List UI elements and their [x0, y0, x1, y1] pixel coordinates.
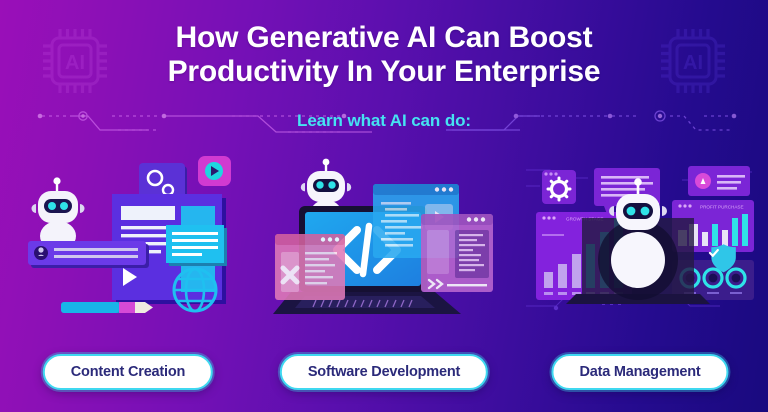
button-data-management[interactable]: Data Management: [551, 354, 728, 390]
profit-card-label: PROFIT PURCHASE: [700, 205, 744, 210]
panel-content-creation[interactable]: Content Creation: [0, 152, 256, 412]
banner-root: AI AI: [0, 0, 768, 412]
search-bar: [28, 241, 149, 268]
button-content-creation[interactable]: Content Creation: [43, 354, 213, 390]
text-card: [166, 225, 227, 266]
illustration-data-management: GROWTH STAGE: [520, 156, 760, 321]
panel-software-development[interactable]: Software Development: [256, 152, 512, 412]
headline-line-2: Productivity In Your Enterprise: [0, 55, 768, 89]
illustration-content-creation: [23, 156, 233, 321]
robot-icon: [32, 177, 85, 251]
tools-window-pink: [275, 234, 345, 300]
page-subtitle: Learn what AI can do:: [0, 111, 768, 131]
button-software-development[interactable]: Software Development: [280, 354, 488, 390]
panel-row: Content Creation: [0, 152, 768, 412]
pencil-icon: [61, 302, 153, 313]
illustration-software-development: [269, 156, 499, 321]
play-media-icon: [198, 156, 231, 186]
code-window-violet: [421, 214, 493, 292]
gear-card-icon: [542, 170, 576, 204]
profile-card: [688, 166, 750, 196]
page-title: How Generative AI Can Boost Productivity…: [0, 21, 768, 89]
panel-data-management[interactable]: GROWTH STAGE: [512, 152, 768, 412]
headline-line-1: How Generative AI Can Boost: [0, 21, 768, 55]
